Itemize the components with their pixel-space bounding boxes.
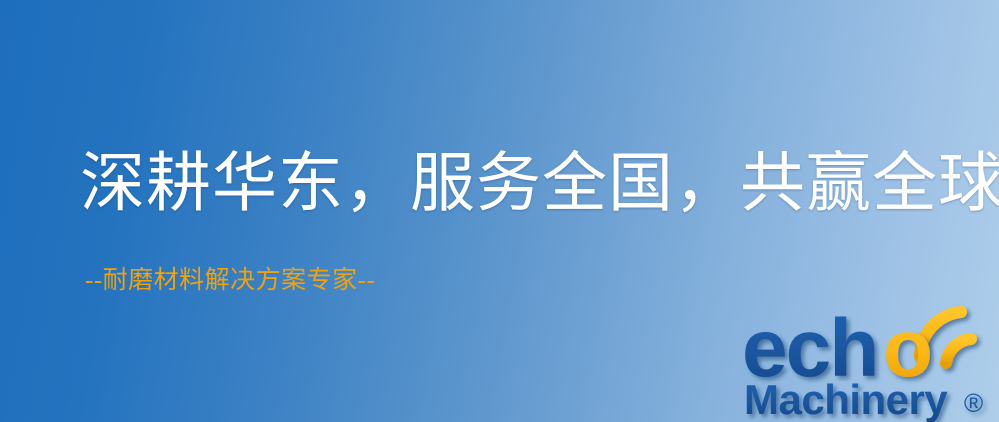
logo-trademark-symbol: ® bbox=[964, 388, 983, 418]
banner-headline: 深耕华东，服务全国，共赢全球 bbox=[80, 152, 999, 217]
logo-tagline: Machinery bbox=[744, 376, 948, 422]
banner-subtitle: --耐磨材料解决方案专家-- bbox=[85, 268, 375, 293]
promo-banner: 深耕华东，服务全国，共赢全球 --耐磨材料解决方案专家-- bbox=[0, 0, 999, 422]
logo-artwork: ech o Machinery ® bbox=[742, 300, 999, 422]
echo-machinery-logo[interactable]: ech o Machinery ® bbox=[742, 300, 999, 422]
